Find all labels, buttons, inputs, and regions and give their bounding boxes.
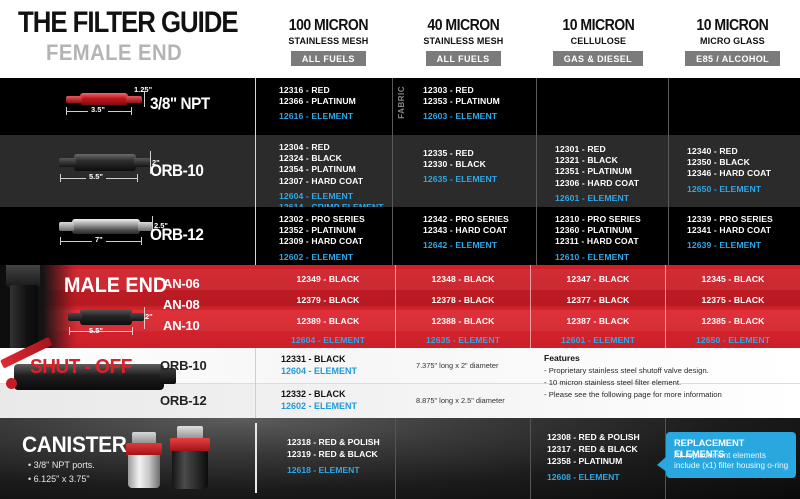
dim-tick-right [137, 174, 138, 182]
row-size-label-an-06: AN-06 [163, 276, 200, 291]
part-number-element: 12639 - ELEMENT [687, 240, 800, 251]
row-size-label-orb-12: ORB-12 [150, 225, 203, 245]
data-cell-r3-c4: 12339 - PRO SERIES 12341 - HARD COAT 126… [668, 207, 800, 265]
part-number: 12331 - BLACK [281, 354, 346, 364]
part-number: 12366 - PLATINUM [279, 96, 392, 107]
data-grid-row-1: 12316 - RED 12366 - PLATINUM 12616 - ELE… [261, 78, 800, 135]
part-number: 12306 - HARD COAT [555, 178, 668, 189]
dim-length-label: 5.5" [86, 172, 106, 181]
part-number: 12310 - PRO SERIES [555, 214, 668, 225]
column-micron-label: 100 MICRON [269, 18, 388, 34]
feature-item: - Proprietary stainless steel shutoff va… [544, 366, 709, 375]
data-grid-row-3: 12302 - PRO SERIES 12352 - PLATINUM 1230… [261, 207, 800, 265]
row-size-label-an-08: AN-08 [163, 297, 200, 312]
column-header-100-micron: 100 MICRON STAINLESS MESH ALL FUELS [261, 8, 396, 78]
table-row: 7" 2.5" ORB-12 12302 - PRO SERIES 12352 … [0, 207, 800, 265]
canister-spec-npt-ports: • 3/8" NPT ports. [28, 460, 95, 470]
filter-body [72, 219, 140, 234]
feature-item: - Please see the following page for more… [544, 390, 722, 399]
data-cell-r2-c3: 12301 - RED 12321 - BLACK 12351 - PLATIN… [536, 135, 668, 207]
column-headers: 100 MICRON STAINLESS MESH ALL FUELS 40 M… [261, 8, 800, 78]
part-number: 12352 - PLATINUM [279, 225, 392, 236]
part-number: 12377 - BLACK [531, 295, 665, 305]
section-title-male-end: MALE END [64, 274, 167, 298]
part-number-element: 12604 - ELEMENT [281, 366, 357, 376]
part-number: 12379 - BLACK [261, 295, 395, 305]
column-fuel-badge: GAS & DIESEL [553, 51, 643, 66]
part-number: 12346 - HARD COAT [687, 168, 800, 179]
table-row: 3.5" 1.25" 3/8" NPT 12316 - RED 12366 - … [0, 78, 800, 135]
data-cell-male-c3: 12347 - BLACK 12377 - BLACK 12387 - BLAC… [530, 265, 665, 348]
part-number: 12304 - RED [279, 142, 392, 153]
part-number-element: 12601 - ELEMENT [531, 335, 665, 345]
feature-item: - 10 micron stainless steel filter eleme… [544, 378, 681, 387]
an-fitting-body-art [10, 285, 38, 348]
data-cell-r2-c1: 12304 - RED 12324 - BLACK 12354 - PLATIN… [261, 135, 392, 207]
replacement-elements-badge: REPLACEMENT ELEMENTS All replacement ele… [666, 432, 796, 478]
part-number: 12332 - BLACK [281, 389, 346, 399]
column-media-label: CELLULOSE [534, 36, 662, 47]
column-micron-label: 10 MICRON [539, 18, 658, 34]
canister-red-cap [170, 438, 210, 452]
part-number: 12350 - BLACK [687, 157, 800, 168]
data-cell-r1-c1: 12316 - RED 12366 - PLATINUM 12616 - ELE… [261, 78, 392, 135]
column-media-label: STAINLESS MESH [264, 36, 392, 47]
data-cell-r1-c4 [668, 78, 800, 135]
canister-spec-dimensions: • 6.125" x 3.75" [28, 474, 90, 484]
data-cell-canister-c3: 12308 - RED & POLISH 12317 - RED & BLACK… [530, 418, 665, 499]
part-number: 12375 - BLACK [666, 295, 800, 305]
data-cell-r3-c3: 12310 - PRO SERIES 12360 - PLATINUM 1231… [536, 207, 668, 265]
filter-body [80, 93, 128, 105]
part-number-element: 12642 - ELEMENT [423, 240, 536, 251]
column-header-40-micron: 40 MICRON STAINLESS MESH ALL FUELS [396, 8, 531, 78]
part-number-element: 12616 - ELEMENT [279, 111, 392, 122]
canister-art-silver [124, 432, 164, 492]
canister-body-black [172, 451, 208, 489]
data-cell-canister-c1: 12318 - RED & POLISH 12319 - RED & BLACK… [261, 418, 395, 499]
dim-length-label: 7" [92, 235, 106, 244]
part-number-element: 12650 - ELEMENT [687, 184, 800, 195]
part-number: 12358 - PLATINUM [547, 456, 622, 466]
part-number-element: 12604 - ELEMENT [261, 335, 395, 345]
row-size-label-orb-10: ORB-10 [160, 358, 206, 373]
column-fuel-badge: E85 / ALCOHOL [685, 51, 780, 66]
part-number: 12354 - PLATINUM [279, 164, 392, 175]
row-size-label-orb-12: ORB-12 [160, 393, 206, 408]
part-number-element: 12601 - ELEMENT [555, 193, 668, 204]
dimension-text: 7.375" long x 2" diameter [416, 361, 499, 370]
part-number-element: 12602 - ELEMENT [281, 401, 357, 411]
part-number: 12360 - PLATINUM [555, 225, 668, 236]
dimension-text: 8.875" long x 2.5" diameter [416, 396, 505, 405]
part-number: 12324 - BLACK [279, 153, 392, 164]
part-number: 12302 - PRO SERIES [279, 214, 392, 225]
part-number: 12342 - PRO SERIES [423, 214, 536, 225]
data-grid-row-2: 12304 - RED 12324 - BLACK 12354 - PLATIN… [261, 135, 800, 207]
data-cell-r2-c4: 12340 - RED 12350 - BLACK 12346 - HARD C… [668, 135, 800, 207]
male-end-data-grid: 12349 - BLACK 12379 - BLACK 12389 - BLAC… [261, 265, 800, 348]
table-row: 5.5" 2" ORB-10 12304 - RED 12324 - BLACK… [0, 135, 800, 207]
dim-length-label: 5.5" [89, 326, 103, 335]
part-number: 12349 - BLACK [261, 274, 395, 284]
part-number: 12316 - RED [279, 85, 392, 96]
filter-guide-sheet: THE FILTER GUIDE FEMALE END 100 MICRON S… [0, 0, 800, 499]
part-number: 12311 - HARD COAT [555, 236, 668, 247]
section-title-female-end: FEMALE END [46, 40, 182, 66]
part-number: 12351 - PLATINUM [555, 166, 668, 177]
dim-tick-right [131, 107, 132, 115]
part-number-element: 12635 - ELEMENT [423, 174, 536, 185]
part-number: 12343 - HARD COAT [423, 225, 536, 236]
part-number: 12388 - BLACK [396, 316, 530, 326]
male-filter-end-left [68, 313, 82, 321]
shutoff-valve-lever-pivot [6, 378, 17, 389]
part-number: 12385 - BLACK [666, 316, 800, 326]
filter-end-left [66, 96, 82, 103]
dim-tick-left [69, 327, 70, 335]
label-column-divider [255, 78, 256, 265]
part-number: 12339 - PRO SERIES [687, 214, 800, 225]
data-cell-male-c1: 12349 - BLACK 12379 - BLACK 12389 - BLAC… [261, 265, 395, 348]
part-number: 12341 - HARD COAT [687, 225, 800, 236]
male-filter-body [80, 309, 132, 325]
column-fuel-badge: ALL FUELS [291, 51, 366, 66]
part-number: 12318 - RED & POLISH [287, 437, 380, 447]
data-cell-r2-c2: 12335 - RED 12330 - BLACK 12635 - ELEMEN… [392, 135, 536, 207]
row-size-label-an-10: AN-10 [163, 318, 200, 333]
features-heading: Features [544, 353, 580, 363]
filter-end-right [126, 96, 142, 103]
filter-art-3-8-npt: 3.5" 1.25" [62, 90, 154, 108]
column-fuel-badge: ALL FUELS [426, 51, 501, 66]
dim-tick-left [60, 237, 61, 245]
part-number-element: 12610 - ELEMENT [555, 252, 668, 263]
dim-tick-left [60, 174, 61, 182]
shut-off-section: SHUT - OFF ORB-10 ORB-12 12331 - BLACK 1… [0, 348, 800, 418]
dim-tick-right [132, 327, 133, 335]
row-size-label-3-8-npt: 3/8" NPT [150, 94, 210, 114]
label-column-divider [255, 423, 257, 493]
column-header-10-micron-microglass: 10 MICRON MICRO GLASS E85 / ALCOHOL [665, 8, 800, 78]
part-number: 12389 - BLACK [261, 316, 395, 326]
column-media-label: MICRO GLASS [669, 36, 797, 47]
dim-diameter-label: 1.25" [134, 85, 152, 94]
data-cell-r3-c2: 12342 - PRO SERIES 12343 - HARD COAT 126… [392, 207, 536, 265]
row-size-label-orb-10: ORB-10 [150, 161, 203, 181]
data-cell-male-c2: 12348 - BLACK 12378 - BLACK 12388 - BLAC… [395, 265, 530, 348]
filter-end-left [59, 222, 74, 231]
part-number: 12347 - BLACK [531, 274, 665, 284]
part-number-element: 12603 - ELEMENT [423, 111, 536, 122]
dim-length-label: 3.5" [88, 105, 108, 114]
dim-tick-right [141, 237, 142, 245]
male-filter-end-right [130, 313, 144, 321]
data-cell-r3-c1: 12302 - PRO SERIES 12352 - PLATINUM 1230… [261, 207, 392, 265]
part-number: 12309 - HARD COAT [279, 236, 392, 247]
label-column-divider [255, 348, 256, 418]
part-number: 12319 - RED & BLACK [287, 449, 378, 459]
filter-end-left [59, 158, 76, 167]
filter-body [74, 154, 136, 171]
part-number-element: 12604 - ELEMENT [279, 191, 392, 202]
column-micron-label: 10 MICRON [673, 18, 792, 34]
filter-end-right [134, 158, 151, 167]
part-number: 12340 - RED [687, 146, 800, 157]
male-end-section: 5.5" 2" MALE END AN-06 AN-08 AN-10 12349… [0, 265, 800, 348]
part-number-element: 12608 - ELEMENT [547, 472, 620, 482]
part-number-element: 12635 - ELEMENT [396, 335, 530, 345]
part-number: 12353 - PLATINUM [423, 96, 536, 107]
column-header-10-micron-cellulose: 10 MICRON CELLULOSE GAS & DIESEL [531, 8, 666, 78]
part-number: 12348 - BLACK [396, 274, 530, 284]
part-number: 12335 - RED [423, 148, 536, 159]
section-title-shut-off: SHUT - OFF [30, 356, 132, 379]
part-number: 12387 - BLACK [531, 316, 665, 326]
badge-line-1: All replacement elements [674, 451, 766, 460]
part-number-element: 12618 - ELEMENT [287, 465, 360, 475]
part-number: 12330 - BLACK [423, 159, 536, 170]
female-end-section: 3.5" 1.25" 3/8" NPT 12316 - RED 12366 - … [0, 78, 800, 265]
canister-body-silver [128, 455, 160, 488]
part-number-element: 12602 - ELEMENT [279, 252, 392, 263]
data-cell-canister-c2 [395, 418, 530, 499]
canister-art-black [168, 426, 212, 494]
data-cell-male-c4: 12345 - BLACK 12375 - BLACK 12385 - BLAC… [665, 265, 800, 348]
dim-diameter-label: 2" [145, 312, 153, 321]
an-fitting-art [6, 265, 40, 287]
title-band: THE FILTER GUIDE FEMALE END 100 MICRON S… [0, 0, 800, 78]
part-number: 12317 - RED & BLACK [547, 444, 638, 454]
fabric-tag-label: FABRIC [397, 86, 406, 119]
part-number: 12303 - RED [423, 85, 536, 96]
part-number: 12307 - HARD COAT [279, 176, 392, 187]
data-cell-r1-c3 [536, 78, 668, 135]
data-cell-r1-c2: FABRIC 12303 - RED 12353 - PLATINUM 1260… [392, 78, 536, 135]
section-title-canister: CANISTER [22, 432, 127, 458]
dim-tick-left [66, 107, 67, 115]
column-media-label: STAINLESS MESH [399, 36, 527, 47]
male-filter-art: 5.5" 2" [66, 305, 152, 335]
part-number: 12378 - BLACK [396, 295, 530, 305]
part-number: 12321 - BLACK [555, 155, 668, 166]
part-number-element: 12650 - ELEMENT [666, 335, 800, 345]
column-micron-label: 40 MICRON [404, 18, 523, 34]
badge-line-2: include (x1) filter housing o-ring [674, 461, 788, 470]
page-title: THE FILTER GUIDE [18, 6, 238, 40]
part-number: 12301 - RED [555, 144, 668, 155]
part-number: 12308 - RED & POLISH [547, 432, 640, 442]
part-number: 12345 - BLACK [666, 274, 800, 284]
